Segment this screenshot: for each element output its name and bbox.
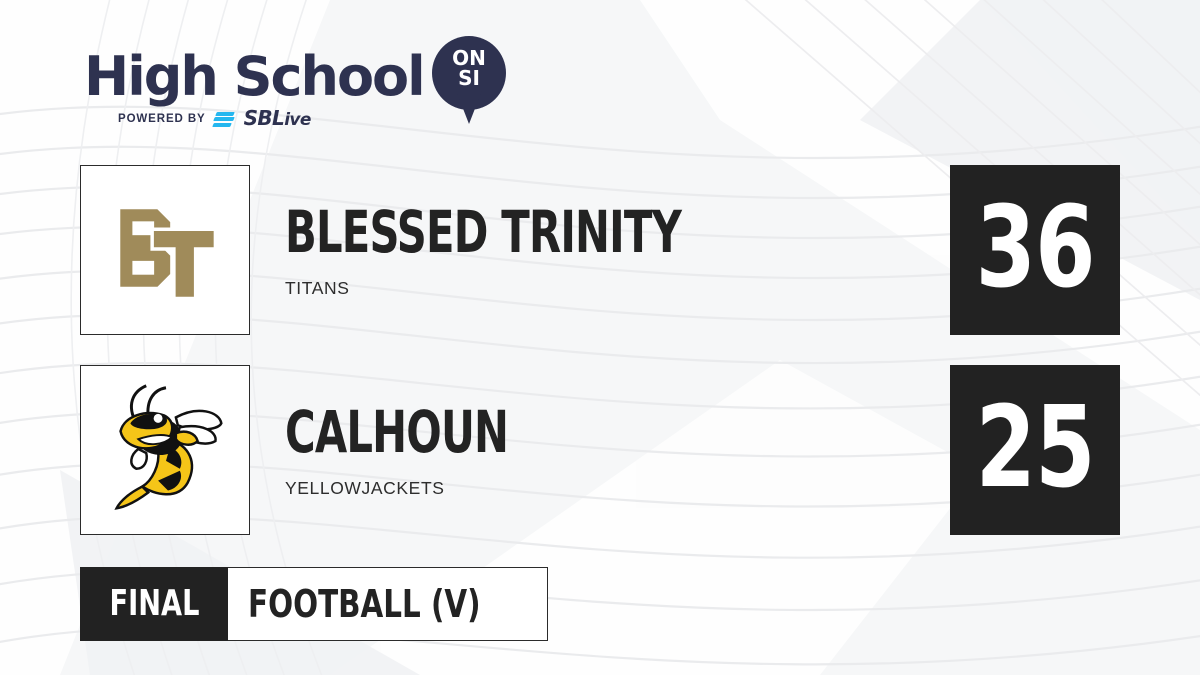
team-name: CALHOUN — [285, 403, 508, 461]
pin-label-line1: ON — [432, 48, 506, 68]
team-score-box: 25 — [950, 365, 1120, 535]
pin-label-line2: SI — [432, 68, 506, 88]
team-name: BLESSED TRINITY — [285, 203, 681, 261]
status-badge: FINAL — [80, 567, 228, 641]
status-badge-label: FINAL — [109, 586, 199, 622]
team-logo-box — [80, 165, 250, 335]
powered-by-block: POWERED BY SBLive — [118, 110, 311, 128]
scoreboard: High School ON SI POWERED BY SBLive — [0, 0, 1200, 675]
team-mascot: TITANS — [285, 278, 350, 299]
calhoun-yellowjacket-mascot-logo — [81, 366, 249, 534]
team-logo-box — [80, 365, 250, 535]
sblive-word-lower: ive — [284, 110, 311, 130]
sblive-slash-icon — [213, 111, 237, 128]
location-pin-icon: ON SI — [432, 36, 506, 124]
team-score-box: 36 — [950, 165, 1120, 335]
powered-by-label: POWERED BY — [118, 113, 206, 125]
page-title: High School — [84, 50, 424, 104]
sblive-wordmark: SBLive — [244, 109, 311, 129]
game-status-bar: FINAL FOOTBALL (V) — [80, 567, 548, 641]
sport-label: FOOTBALL (V) — [248, 585, 481, 623]
sblive-word-upper: SBL — [244, 106, 285, 130]
pin-label: ON SI — [432, 48, 506, 88]
team-score: 36 — [976, 192, 1095, 304]
team-row: BLESSED TRINITY TITANS 36 — [0, 165, 1200, 335]
sport-label-box: FOOTBALL (V) — [228, 567, 548, 641]
team-row: CALHOUN YELLOWJACKETS 25 — [0, 365, 1200, 535]
team-mascot: YELLOWJACKETS — [285, 478, 445, 499]
blessed-trinity-bt-monogram-logo — [81, 166, 249, 334]
team-score: 25 — [976, 392, 1095, 504]
